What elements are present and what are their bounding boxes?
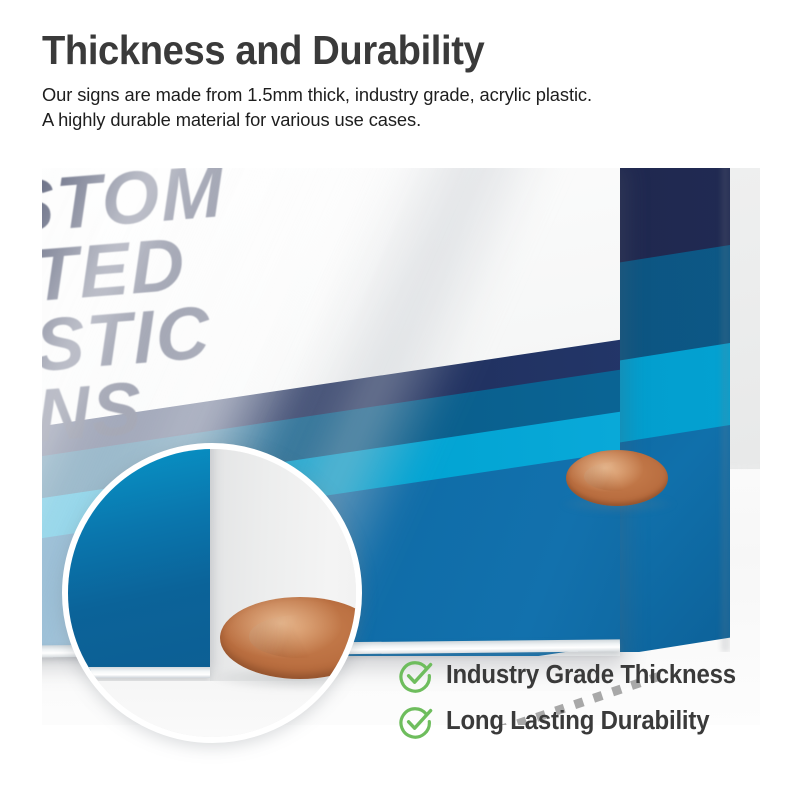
- feature-item: Industry Grade Thickness: [398, 652, 778, 698]
- page-subtitle: Our signs are made from 1.5mm thick, ind…: [42, 83, 761, 132]
- feature-label: Long Lasting Durability: [446, 707, 709, 736]
- magnifier-callout: [62, 443, 362, 743]
- penny-face: [566, 450, 668, 506]
- rear-sign-shadow: [722, 168, 730, 652]
- header-block: Thickness and Durability Our signs are m…: [42, 26, 772, 132]
- subtitle-line-1: Our signs are made from 1.5mm thick, ind…: [42, 83, 761, 108]
- feature-item: Long Lasting Durability: [398, 698, 778, 744]
- magnifier-content: [68, 449, 356, 737]
- magnifier-penny-coin: [220, 597, 362, 679]
- check-circle-icon: [398, 703, 434, 739]
- magnifier-penny-relief: [249, 615, 351, 658]
- penny-coin: [566, 450, 668, 506]
- penny-relief: [584, 462, 649, 491]
- magnifier-penny-face: [220, 597, 362, 679]
- subtitle-line-2: A highly durable material for various us…: [42, 108, 761, 133]
- feature-label: Industry Grade Thickness: [446, 661, 736, 690]
- magnifier-acrylic-edge: [62, 667, 210, 678]
- magnifier-acrylic-slab: [62, 443, 210, 671]
- feature-list: Industry Grade Thickness Long Lasting Du…: [398, 652, 778, 744]
- infographic-page: Thickness and Durability Our signs are m…: [0, 0, 800, 800]
- check-circle-icon: [398, 657, 434, 693]
- page-title: Thickness and Durability: [42, 26, 721, 74]
